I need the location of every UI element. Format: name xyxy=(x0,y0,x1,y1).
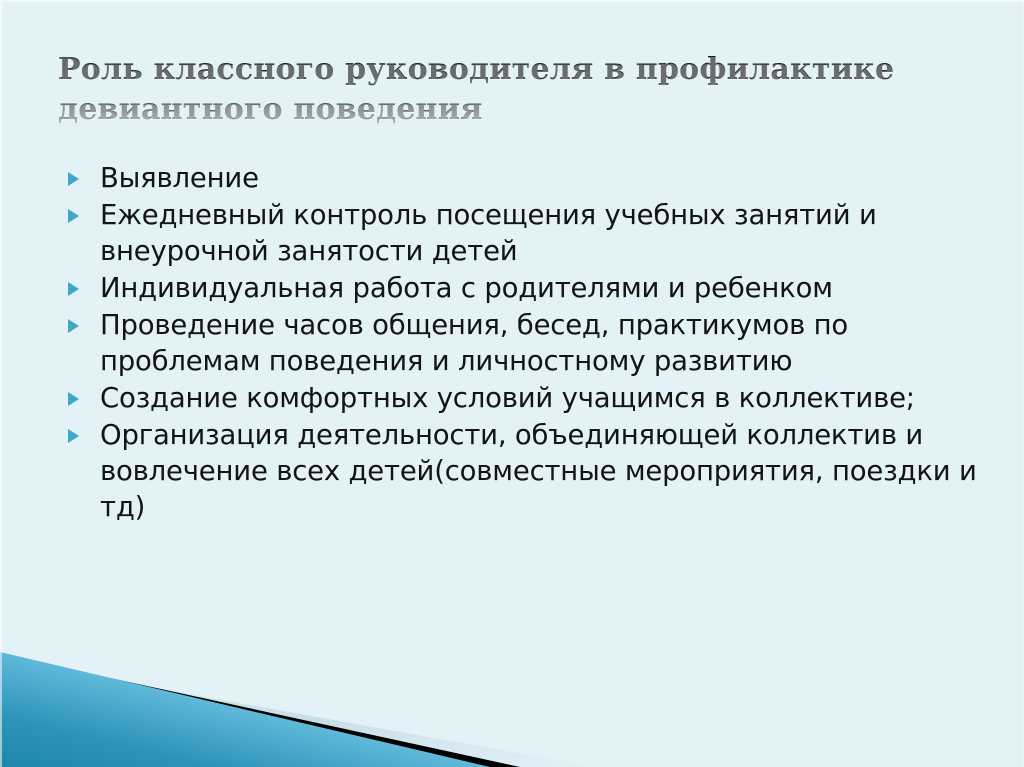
list-item: Индивидуальная работа с родителями и реб… xyxy=(62,270,982,306)
triangle-right-icon xyxy=(68,172,79,186)
triangle-right-icon xyxy=(68,319,79,333)
list-item-label: Индивидуальная работа с родителями и реб… xyxy=(100,272,833,304)
silver-wedge xyxy=(0,660,595,767)
bullet-list: Выявление Ежедневный контроль посещения … xyxy=(62,160,982,526)
list-item: Ежедневный контроль посещения учебных за… xyxy=(62,197,982,269)
list-item: Создание комфортных условий учащимся в к… xyxy=(62,380,982,416)
list-item-label: Выявление xyxy=(100,162,259,194)
list-item: Выявление xyxy=(62,160,982,196)
triangle-right-icon xyxy=(68,392,79,406)
list-item-label: Организация деятельности, объединяющей к… xyxy=(100,419,977,523)
list-item-label: Проведение часов общения, бесед, практик… xyxy=(100,309,848,377)
list-item-label: Создание комфортных условий учащимся в к… xyxy=(100,382,915,414)
triangle-right-icon xyxy=(68,209,79,223)
page-title: Роль классного руководителя в профилакти… xyxy=(58,50,928,130)
slide-canvas: Роль классного руководителя в профилакти… xyxy=(0,0,1024,767)
triangle-right-icon xyxy=(68,429,79,443)
triangle-right-icon xyxy=(68,282,79,296)
teal-wedge xyxy=(0,652,490,767)
list-item: Проведение часов общения, бесед, практик… xyxy=(62,307,982,379)
list-item: Организация деятельности, объединяющей к… xyxy=(62,417,982,525)
title-block: Роль классного руководителя в профилакти… xyxy=(58,50,928,130)
black-stripe xyxy=(0,654,520,767)
diagonal-ribbon-decoration xyxy=(0,632,1024,767)
ribbon-svg xyxy=(0,632,1024,767)
list-item-label: Ежедневный контроль посещения учебных за… xyxy=(100,199,877,267)
